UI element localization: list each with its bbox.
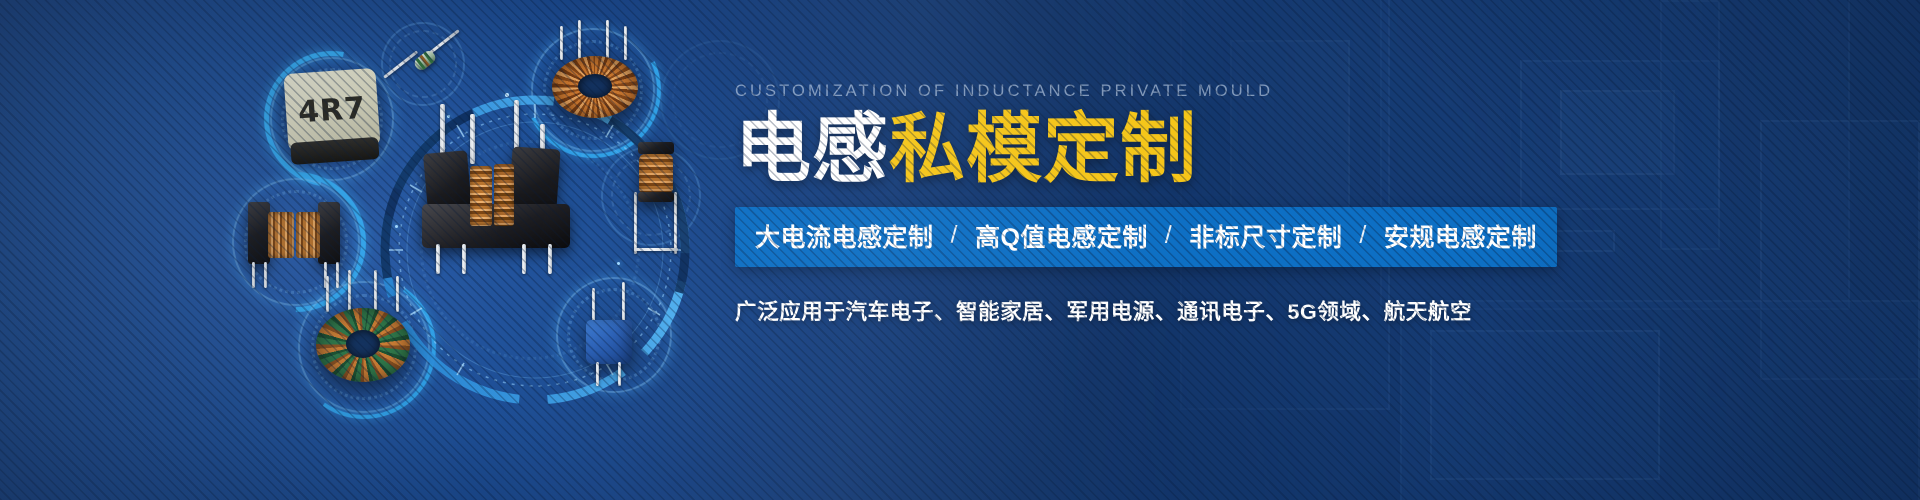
smd-inductor-code: 4R7 xyxy=(283,68,380,152)
tag-item-0[interactable]: 大电流电感定制 xyxy=(755,218,934,254)
tag-separator: / xyxy=(1165,221,1172,250)
product-drum-core-inductor xyxy=(626,148,688,258)
product-hero-inductor-assembly xyxy=(418,108,578,268)
glow-dot xyxy=(447,115,450,118)
service-tag-bar[interactable]: 大电流电感定制 / 高Q值电感定制 / 非标尺寸定制 / 安规电感定制 xyxy=(735,207,1557,267)
banner-headline: 电感私模定制 xyxy=(735,110,1875,191)
banner-text-block: CUSTOMIZATION OF INDUCTANCE PRIVATE MOUL… xyxy=(735,82,1875,326)
tag-item-1[interactable]: 高Q值电感定制 xyxy=(975,218,1148,254)
tag-separator: / xyxy=(951,221,958,250)
product-smd-power-inductor: 4R7 xyxy=(286,71,378,149)
smd-inductor-body: 4R7 xyxy=(283,68,380,152)
product-green-toroid xyxy=(312,296,416,398)
product-common-mode-choke xyxy=(244,192,348,292)
promo-banner: 4R7 xyxy=(0,0,1920,500)
banner-description: 广泛应用于汽车电子、智能家居、军用电源、通讯电子、5G领域、航天航空 xyxy=(735,295,1875,326)
glow-dot xyxy=(395,225,398,228)
glow-dot xyxy=(505,93,509,97)
tag-item-3[interactable]: 安规电感定制 xyxy=(1384,218,1537,254)
headline-white-part: 电感 xyxy=(735,107,889,192)
headline-gold-part: 私模定制 xyxy=(889,107,1197,192)
glow-dot xyxy=(617,262,620,265)
tag-item-2[interactable]: 非标尺寸定制 xyxy=(1189,218,1342,254)
product-axial-inductor xyxy=(386,28,462,100)
product-blue-radial-inductor xyxy=(578,292,652,388)
tag-separator: / xyxy=(1359,221,1366,250)
banner-eyebrow-english: CUSTOMIZATION OF INDUCTANCE PRIVATE MOUL… xyxy=(735,82,1875,101)
